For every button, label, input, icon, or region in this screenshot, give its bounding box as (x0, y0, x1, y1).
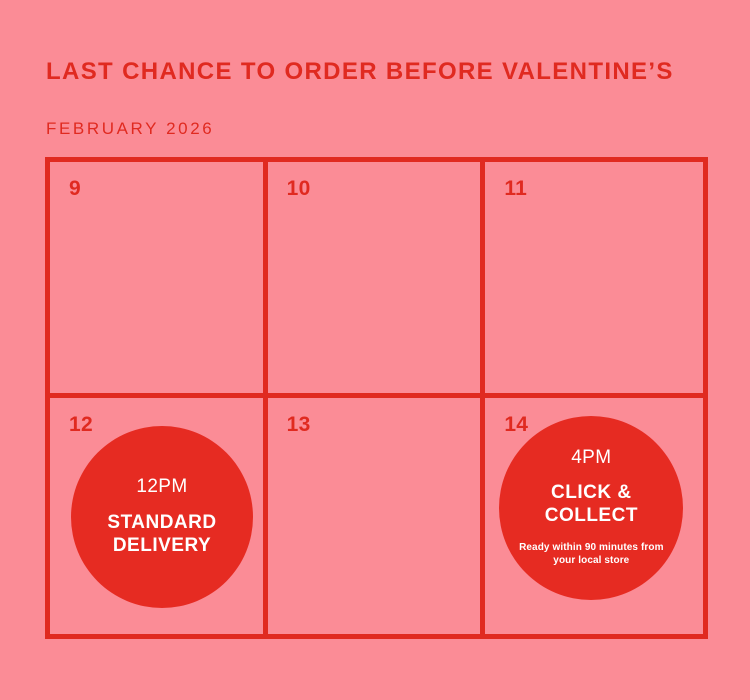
click-and-collect-badge[interactable]: 4PM CLICK & COLLECT Ready within 90 minu… (499, 416, 683, 600)
day-number-13: 13 (287, 414, 311, 435)
standard-delivery-badge[interactable]: 12PM STANDARD DELIVERY (71, 426, 253, 608)
calendar-day-cell-13[interactable]: 13 (268, 398, 486, 634)
calendar-day-cell-10[interactable]: 10 (268, 162, 486, 398)
calendar-grid: 9 10 11 12 12PM STANDARD DELIVERY 13 14 … (45, 157, 708, 639)
calendar-month-label: FEBRUARY 2026 (46, 120, 214, 139)
click-and-collect-label: CLICK & COLLECT (511, 482, 671, 528)
day-number-9: 9 (69, 178, 81, 199)
click-and-collect-cutoff-time: 4PM (571, 448, 611, 467)
click-and-collect-note: Ready within 90 minutes from your local … (516, 541, 666, 568)
valentines-promo-banner: LAST CHANCE TO ORDER BEFORE VALENTINE’S … (0, 0, 750, 700)
day-number-12: 12 (69, 414, 93, 435)
calendar-day-cell-9[interactable]: 9 (50, 162, 268, 398)
day-number-11: 11 (504, 178, 527, 199)
standard-delivery-label: STANDARD DELIVERY (82, 512, 242, 558)
day-number-14: 14 (504, 414, 528, 435)
standard-delivery-cutoff-time: 12PM (136, 477, 187, 496)
calendar-day-cell-12[interactable]: 12 12PM STANDARD DELIVERY (50, 398, 268, 634)
calendar-day-cell-14[interactable]: 14 4PM CLICK & COLLECT Ready within 90 m… (485, 398, 703, 634)
day-number-10: 10 (287, 178, 311, 199)
calendar-day-cell-11[interactable]: 11 (485, 162, 703, 398)
page-title: LAST CHANCE TO ORDER BEFORE VALENTINE’S (46, 59, 674, 85)
